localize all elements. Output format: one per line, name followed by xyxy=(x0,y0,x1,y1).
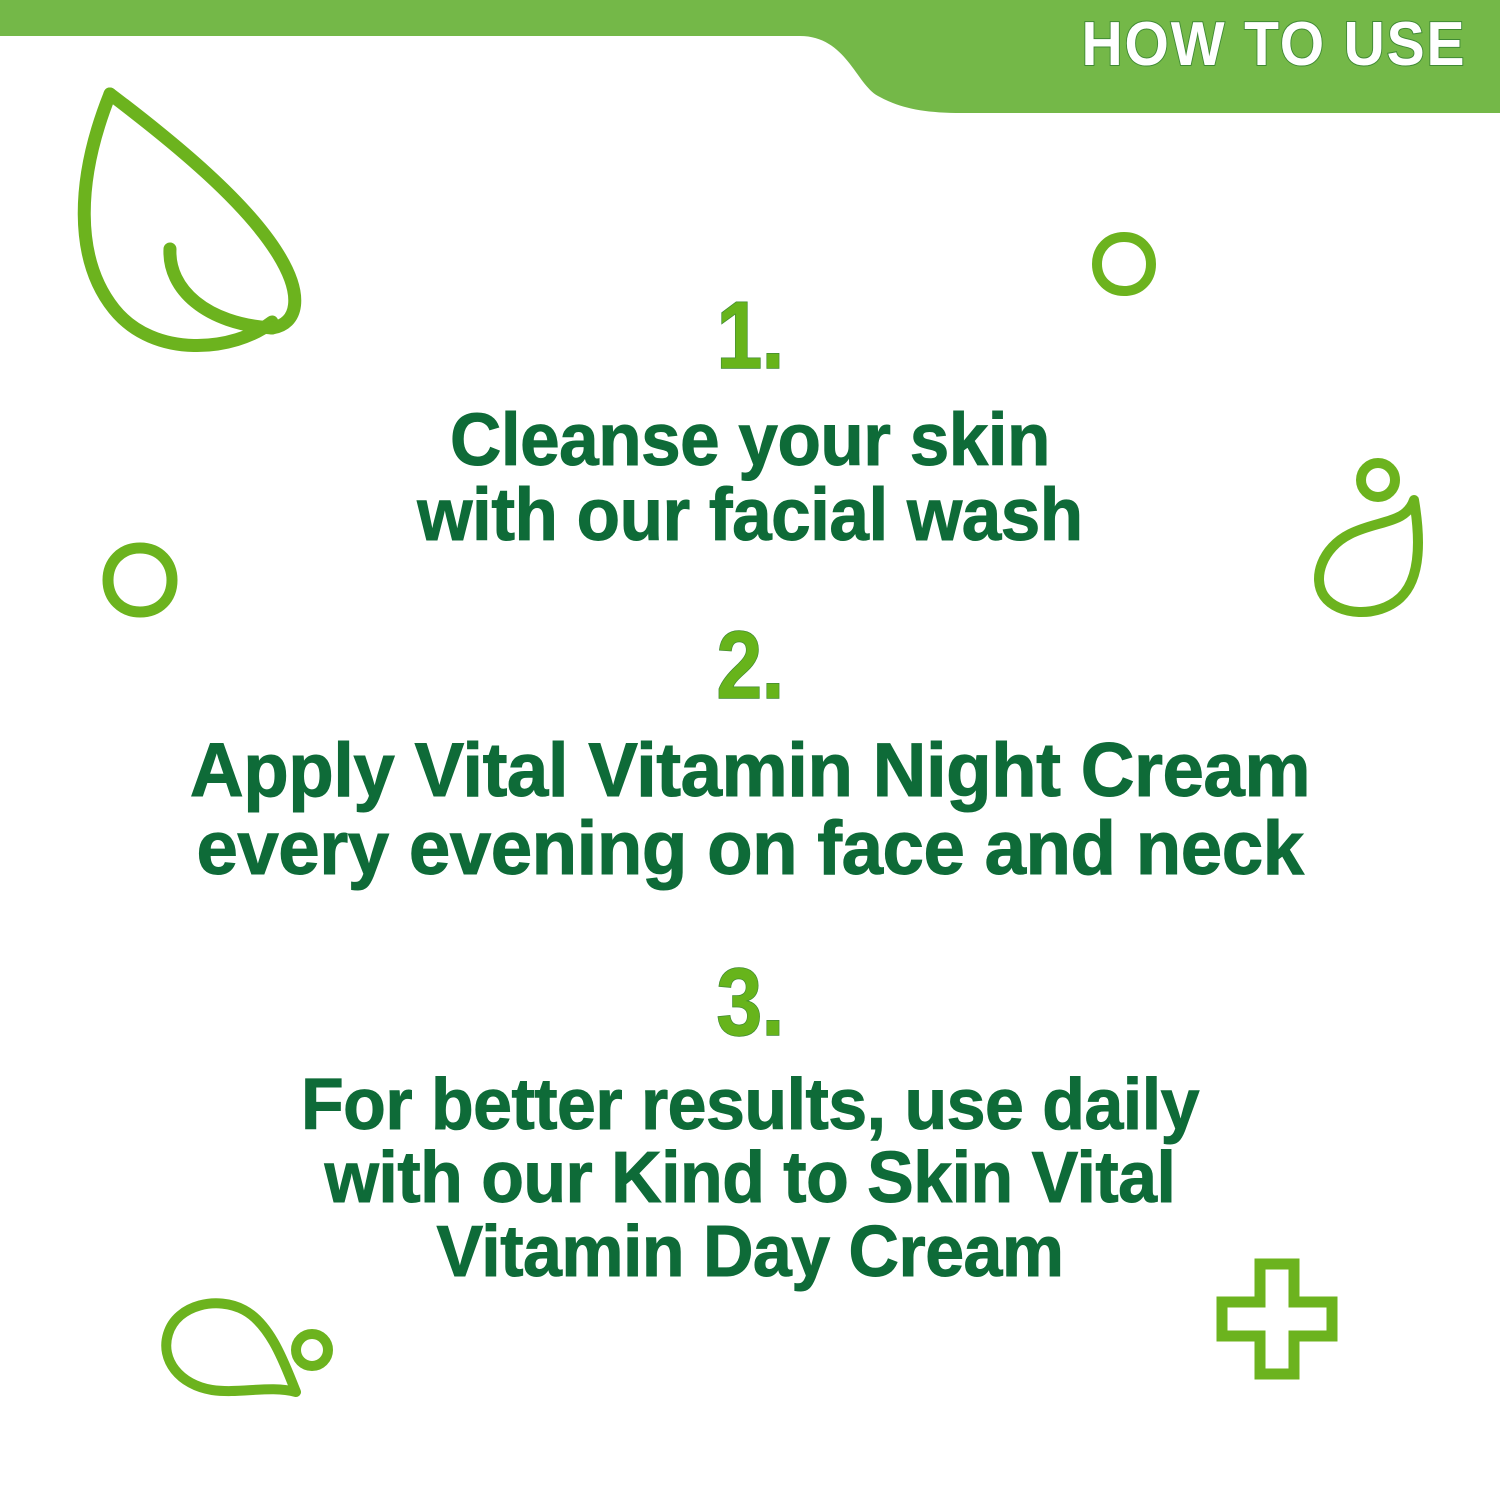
step-text-line: with our facial wash xyxy=(30,477,1470,552)
step-text: Cleanse your skin with our facial wash xyxy=(30,402,1470,553)
step-text: For better results, use daily with our K… xyxy=(23,1069,1478,1289)
step-text: Apply Vital Vitamin Night Cream every ev… xyxy=(15,732,1485,887)
how-to-use-infographic: HOW TO USE 1. Cleanse your skin with our… xyxy=(0,0,1500,1500)
step-item: 1. Cleanse your skin with our facial was… xyxy=(0,288,1500,553)
step-text-line: every evening on face and neck xyxy=(15,810,1485,888)
step-number: 3. xyxy=(105,955,1395,1051)
step-text-line: with our Kind to Skin Vital xyxy=(23,1142,1478,1215)
step-text-line: Apply Vital Vitamin Night Cream xyxy=(15,732,1485,810)
steps-list: 1. Cleanse your skin with our facial was… xyxy=(0,0,1500,1500)
step-number: 2. xyxy=(105,618,1395,714)
step-text-line: Vitamin Day Cream xyxy=(23,1216,1478,1289)
step-item: 2. Apply Vital Vitamin Night Cream every… xyxy=(0,618,1500,887)
step-number: 1. xyxy=(105,288,1395,384)
step-text-line: For better results, use daily xyxy=(23,1069,1478,1142)
step-item: 3. For better results, use daily with ou… xyxy=(0,955,1500,1289)
step-text-line: Cleanse your skin xyxy=(30,402,1470,477)
